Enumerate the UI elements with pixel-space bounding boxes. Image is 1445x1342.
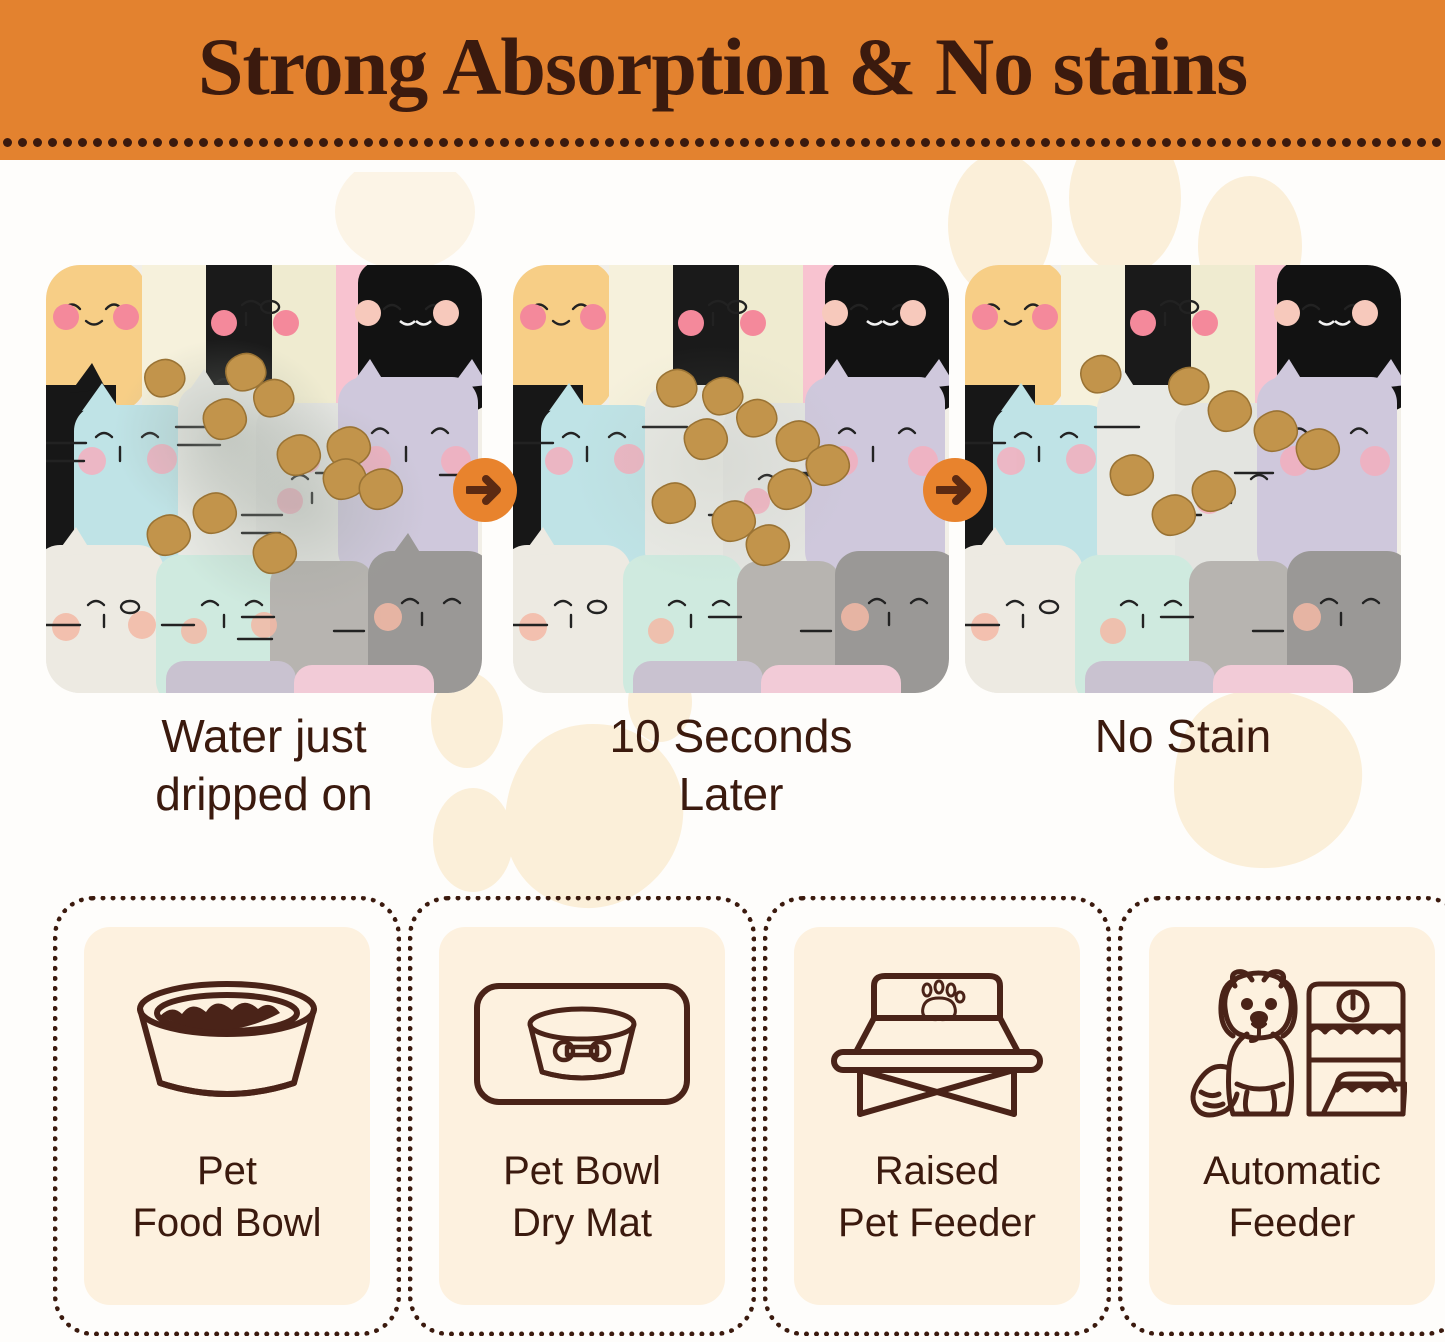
banner-dot (244, 138, 253, 147)
banner-dot (454, 138, 463, 147)
use-case-card-pet-bowl-dry-mat[interactable]: Pet Bowl Dry Mat (408, 896, 756, 1336)
banner-dot (861, 138, 870, 147)
card-label-line: Feeder (1203, 1197, 1381, 1249)
card-label: Raised Pet Feeder (838, 1145, 1036, 1249)
banner-dot (1237, 138, 1246, 147)
infographic-page: Strong Absorption & No stains (0, 0, 1445, 1342)
banner-dot (530, 138, 539, 147)
banner-dot (334, 138, 343, 147)
banner-dot (590, 138, 599, 147)
banner-dot (199, 138, 208, 147)
banner-dot (1086, 138, 1095, 147)
banner-dot (108, 138, 117, 147)
banner-dot (650, 138, 659, 147)
banner-dot (1357, 138, 1366, 147)
banner-dot (635, 138, 644, 147)
banner-dot (138, 138, 147, 147)
banner-dot (289, 138, 298, 147)
card-body: Raised Pet Feeder (794, 927, 1080, 1305)
banner-dot (1402, 138, 1411, 147)
card-label: Automatic Feeder (1203, 1145, 1381, 1249)
use-case-card-automatic-feeder[interactable]: Automatic Feeder (1118, 896, 1445, 1336)
banner-dot (1207, 138, 1216, 147)
card-label-line: Automatic (1203, 1145, 1381, 1197)
banner-dot (169, 138, 178, 147)
card-label-line: Food Bowl (133, 1197, 322, 1249)
demo-photo-water-dripped (46, 265, 482, 693)
banner-dot (48, 138, 57, 147)
banner-dot (800, 138, 809, 147)
banner-dot (259, 138, 268, 147)
banner-dot (966, 138, 975, 147)
banner-dot (184, 138, 193, 147)
banner-dot (304, 138, 313, 147)
banner-dot (1162, 138, 1171, 147)
banner-dot (229, 138, 238, 147)
banner-dot (1222, 138, 1231, 147)
banner-dot (409, 138, 418, 147)
banner-dot (1387, 138, 1396, 147)
demo-photo-ten-seconds-later (513, 265, 949, 693)
banner-dot (876, 138, 885, 147)
banner-dot (1327, 138, 1336, 147)
banner-dot (785, 138, 794, 147)
banner-dot (740, 138, 749, 147)
banner-dot (545, 138, 554, 147)
page-title: Strong Absorption & No stains (0, 26, 1445, 108)
banner-dot (123, 138, 132, 147)
banner-dot (1041, 138, 1050, 147)
banner-dot (605, 138, 614, 147)
banner-dot (755, 138, 764, 147)
banner-dot (1011, 138, 1020, 147)
card-body: Automatic Feeder (1149, 927, 1435, 1305)
card-label-line: Pet (133, 1145, 322, 1197)
pet-food-bowl-icon (122, 949, 332, 1139)
arrow-right-icon (453, 458, 517, 522)
caption-line: dripped on (46, 766, 482, 824)
banner-dot (500, 138, 509, 147)
banner-dot (319, 138, 328, 147)
banner-dot (1267, 138, 1276, 147)
banner-dot (469, 138, 478, 147)
card-label-line: Pet Bowl (503, 1145, 661, 1197)
banner-dot (1056, 138, 1065, 147)
banner-dot (710, 138, 719, 147)
banner-dot (1132, 138, 1141, 147)
banner-dot (1342, 138, 1351, 147)
banner-dot (725, 138, 734, 147)
banner-dot (214, 138, 223, 147)
banner-dot (93, 138, 102, 147)
demo-caption: Water just dripped on (46, 708, 482, 823)
banner-dot (620, 138, 629, 147)
banner-dot (1417, 138, 1426, 147)
banner-dot (846, 138, 855, 147)
banner-dot (981, 138, 990, 147)
card-label: Pet Food Bowl (133, 1145, 322, 1249)
banner-dot (1071, 138, 1080, 147)
automatic-feeder-icon (1177, 949, 1407, 1139)
banner-dot (1282, 138, 1291, 147)
demo-caption: 10 Seconds Later (513, 708, 949, 823)
use-case-card-raised-pet-feeder[interactable]: Raised Pet Feeder (763, 896, 1111, 1336)
banner-dot (3, 138, 12, 147)
banner-dot (349, 138, 358, 147)
banner-dot (1177, 138, 1186, 147)
card-label: Pet Bowl Dry Mat (503, 1145, 661, 1249)
banner-dot (63, 138, 72, 147)
banner-dot (695, 138, 704, 147)
caption-line: Later (513, 766, 949, 824)
card-body: Pet Bowl Dry Mat (439, 927, 725, 1305)
banner-dot (379, 138, 388, 147)
card-label-line: Pet Feeder (838, 1197, 1036, 1249)
caption-line: 10 Seconds (513, 708, 949, 766)
caption-line: No Stain (965, 708, 1401, 766)
banner-dot (274, 138, 283, 147)
banner-dot (1312, 138, 1321, 147)
header-banner: Strong Absorption & No stains (0, 0, 1445, 160)
demo-caption: No Stain (965, 708, 1401, 766)
use-case-cards: Pet Food Bowl (0, 896, 1445, 1342)
banner-dot (936, 138, 945, 147)
banner-dot (364, 138, 373, 147)
arrow-right-icon (923, 458, 987, 522)
banner-dot (575, 138, 584, 147)
raised-pet-feeder-icon (826, 949, 1048, 1139)
card-label-line: Raised (838, 1145, 1036, 1197)
demo-photo-no-stain (965, 265, 1401, 693)
banner-dot (906, 138, 915, 147)
use-case-card-pet-food-bowl[interactable]: Pet Food Bowl (53, 896, 401, 1336)
banner-dot (1372, 138, 1381, 147)
banner-dot (485, 138, 494, 147)
banner-dot (665, 138, 674, 147)
banner-dot (33, 138, 42, 147)
banner-dot (1297, 138, 1306, 147)
banner-dot (439, 138, 448, 147)
caption-line: Water just (46, 708, 482, 766)
banner-dot (1116, 138, 1125, 147)
banner-dot (78, 138, 87, 147)
banner-dot (996, 138, 1005, 147)
banner-dot (424, 138, 433, 147)
banner-dot (560, 138, 569, 147)
banner-dotted-divider (0, 138, 1445, 149)
card-label-line: Dry Mat (503, 1197, 661, 1249)
banner-dot (1147, 138, 1156, 147)
pet-bowl-dry-mat-icon (472, 949, 692, 1139)
banner-dot (1026, 138, 1035, 147)
banner-dot (153, 138, 162, 147)
banner-dot (921, 138, 930, 147)
banner-dot (680, 138, 689, 147)
banner-dot (1432, 138, 1441, 147)
banner-dot (1252, 138, 1261, 147)
banner-dot (816, 138, 825, 147)
banner-dot (891, 138, 900, 147)
banner-dot (394, 138, 403, 147)
card-body: Pet Food Bowl (84, 927, 370, 1305)
absorption-demo-photos (46, 265, 1400, 693)
banner-dot (1101, 138, 1110, 147)
banner-dot (1192, 138, 1201, 147)
banner-dot (18, 138, 27, 147)
banner-dot (951, 138, 960, 147)
banner-dot (515, 138, 524, 147)
banner-dot (831, 138, 840, 147)
banner-dot (770, 138, 779, 147)
